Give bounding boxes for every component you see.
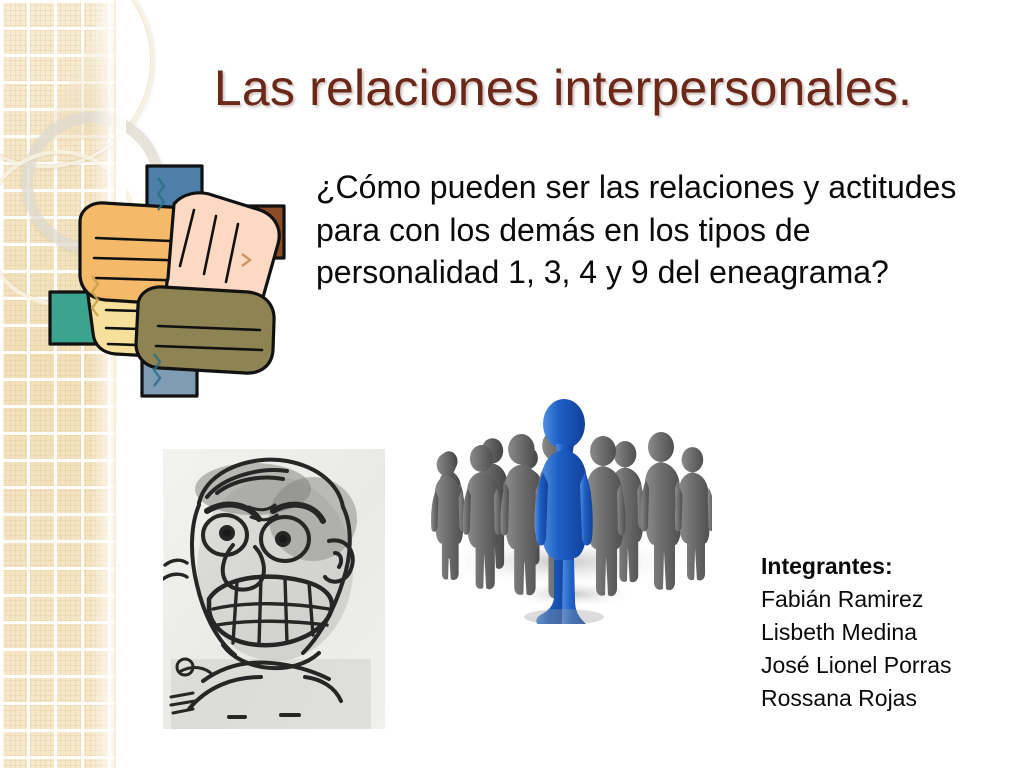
list-item: Lisbeth Medina (761, 616, 1021, 649)
crowd-standout-figure-graphic (412, 392, 712, 624)
members-list: Fabián Ramirez Lisbeth Medina José Lione… (761, 583, 1021, 715)
list-item: José Lionel Porras (761, 649, 1021, 682)
four-hands-unity-icon (46, 158, 296, 403)
presentation-slide: Las relaciones interpersonales. ¿Cómo pu… (0, 0, 1024, 768)
slide-title: Las relaciones interpersonales. (118, 62, 1008, 115)
angry-man-pencil-sketch (163, 449, 385, 729)
members-block: Integrantes: Fabián Ramirez Lisbeth Medi… (761, 552, 1021, 714)
slide-question-text: ¿Cómo pueden ser las relaciones y actitu… (316, 166, 996, 294)
list-item: Fabián Ramirez (761, 583, 1021, 616)
members-heading: Integrantes: (761, 552, 1021, 582)
list-item: Rossana Rojas (761, 682, 1021, 715)
